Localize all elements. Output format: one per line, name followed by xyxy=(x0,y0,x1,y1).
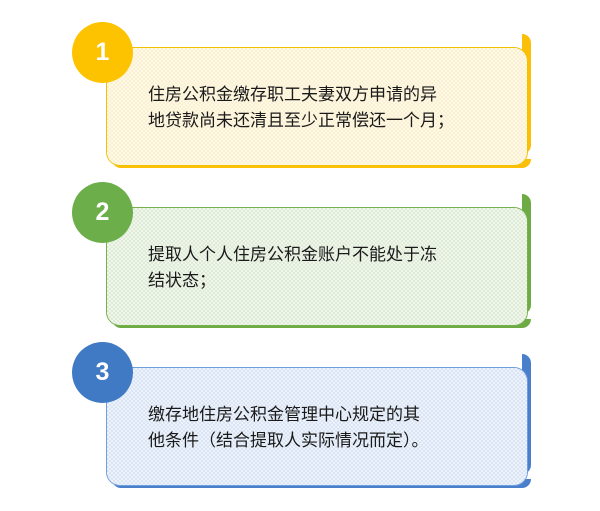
step-item-3: 3 缴存地住房公积金管理中心规定的其 他条件（结合提取人实际情况而定）。 xyxy=(0,342,600,490)
step-badge-3: 3 xyxy=(72,342,133,403)
step-item-1: 1 住房公积金缴存职工夫妻双方申请的异 地贷款尚未还清且至少正常偿还一个月； xyxy=(0,22,600,170)
step-text-2: 提取人个人住房公积金账户不能处于冻 结状态； xyxy=(148,242,508,294)
step-badge-1: 1 xyxy=(72,22,133,83)
step-item-2: 2 提取人个人住房公积金账户不能处于冻 结状态； xyxy=(0,182,600,330)
step-number-label: 2 xyxy=(96,200,110,225)
step-text-1: 住房公积金缴存职工夫妻双方申请的异 地贷款尚未还清且至少正常偿还一个月； xyxy=(148,82,508,134)
step-text-3: 缴存地住房公积金管理中心规定的其 他条件（结合提取人实际情况而定）。 xyxy=(148,402,508,454)
step-number-label: 3 xyxy=(96,360,110,385)
conditions-infographic: 1 住房公积金缴存职工夫妻双方申请的异 地贷款尚未还清且至少正常偿还一个月； 2… xyxy=(0,0,600,511)
step-badge-2: 2 xyxy=(72,182,133,243)
step-number-label: 1 xyxy=(96,40,110,65)
